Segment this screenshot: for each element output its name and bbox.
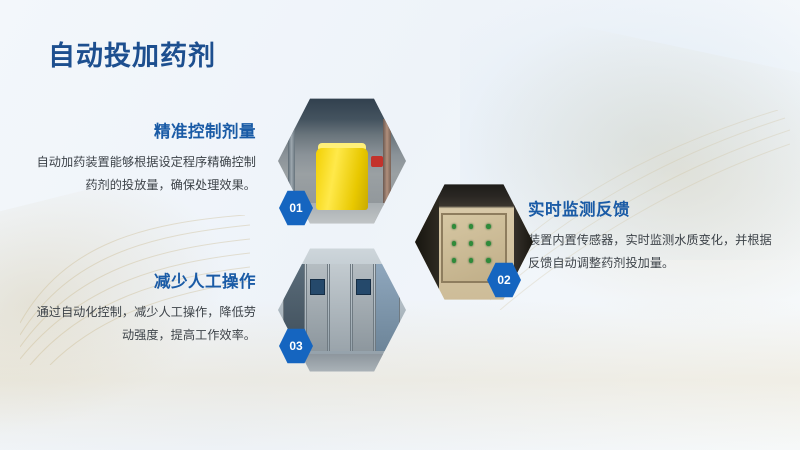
photo-detail-led	[486, 241, 490, 246]
photo-detail-led	[469, 224, 473, 229]
photo-detail-led	[452, 224, 456, 229]
photo-detail-cabinet	[352, 264, 374, 351]
feature-heading-01: 精准控制剂量	[26, 118, 256, 142]
photo-detail-led	[469, 241, 473, 246]
photo-detail-cabinet	[329, 264, 351, 351]
photo-detail-shadow	[415, 182, 439, 302]
feature-body-03: 通过自动化控制，减少人工操作，降低劳动强度，提高工作效率。	[26, 301, 256, 346]
feature-heading-02: 实时监测反馈	[528, 196, 778, 220]
photo-detail-led	[452, 258, 456, 263]
photo-detail-screen	[310, 279, 325, 294]
slide-canvas: 自动投加药剂 精准控制剂量 自动加药装置能够根据设定程序精确控制药剂的投放量，确…	[0, 0, 800, 450]
feature-block-01: 精准控制剂量 自动加药装置能够根据设定程序精确控制药剂的投放量，确保处理效果。	[26, 118, 256, 196]
feature-body-02: 装置内置传感器，实时监测水质变化，并根据反馈自动调整药剂投加量。	[528, 229, 778, 274]
photo-detail-tank	[316, 148, 367, 210]
page-title: 自动投加药剂	[48, 34, 216, 73]
feature-body-01: 自动加药装置能够根据设定程序精确控制药剂的投放量，确保处理效果。	[26, 151, 256, 196]
photo-detail-pipe	[383, 119, 391, 215]
photo-detail-screen	[356, 279, 371, 294]
feature-block-03: 减少人工操作 通过自动化控制，减少人工操作，降低劳动强度，提高工作效率。	[26, 268, 256, 346]
photo-detail-valve	[371, 156, 383, 168]
feature-heading-03: 减少人工操作	[26, 268, 256, 292]
feature-block-02: 实时监测反馈 装置内置传感器，实时监测水质变化，并根据反馈自动调整药剂投加量。	[528, 196, 778, 274]
photo-detail-cabinet	[306, 264, 328, 351]
photo-detail-led	[486, 224, 490, 229]
photo-detail-led	[469, 258, 473, 263]
photo-detail-led	[486, 258, 490, 263]
photo-detail-cabinet	[375, 264, 399, 351]
photo-detail-led	[452, 241, 456, 246]
